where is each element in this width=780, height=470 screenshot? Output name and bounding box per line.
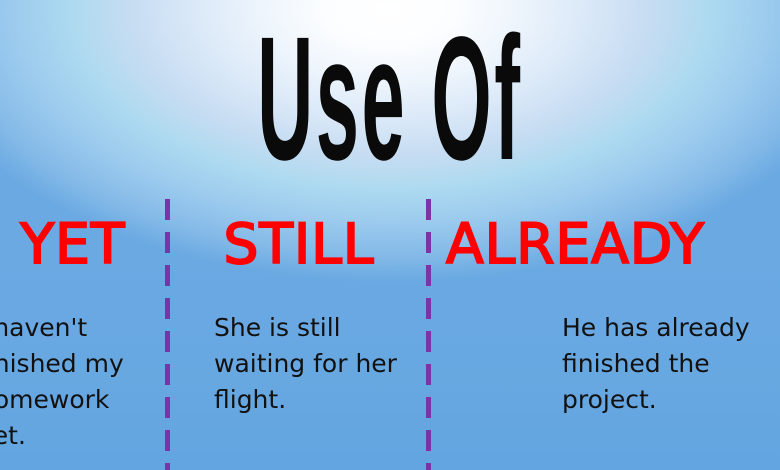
slide-canvas: Use Of YET I haven't finished my homewor… bbox=[0, 0, 780, 470]
column-example-still: She is still waiting for her flight. bbox=[214, 310, 424, 418]
column-yet: YET I haven't finished my homework yet. bbox=[0, 200, 168, 470]
column-heading-still: STILL bbox=[172, 208, 426, 280]
column-divider-right bbox=[426, 199, 431, 470]
column-heading-already: ALREADY bbox=[432, 208, 780, 280]
column-heading-yet: YET bbox=[0, 208, 168, 280]
column-example-already: He has already finished the project. bbox=[562, 310, 780, 418]
column-still: STILL She is still waiting for her fligh… bbox=[172, 200, 426, 470]
column-example-yet: I haven't finished my homework yet. bbox=[0, 310, 168, 454]
column-already: ALREADY He has already finished the proj… bbox=[432, 200, 780, 470]
page-title: Use Of bbox=[218, 8, 561, 190]
